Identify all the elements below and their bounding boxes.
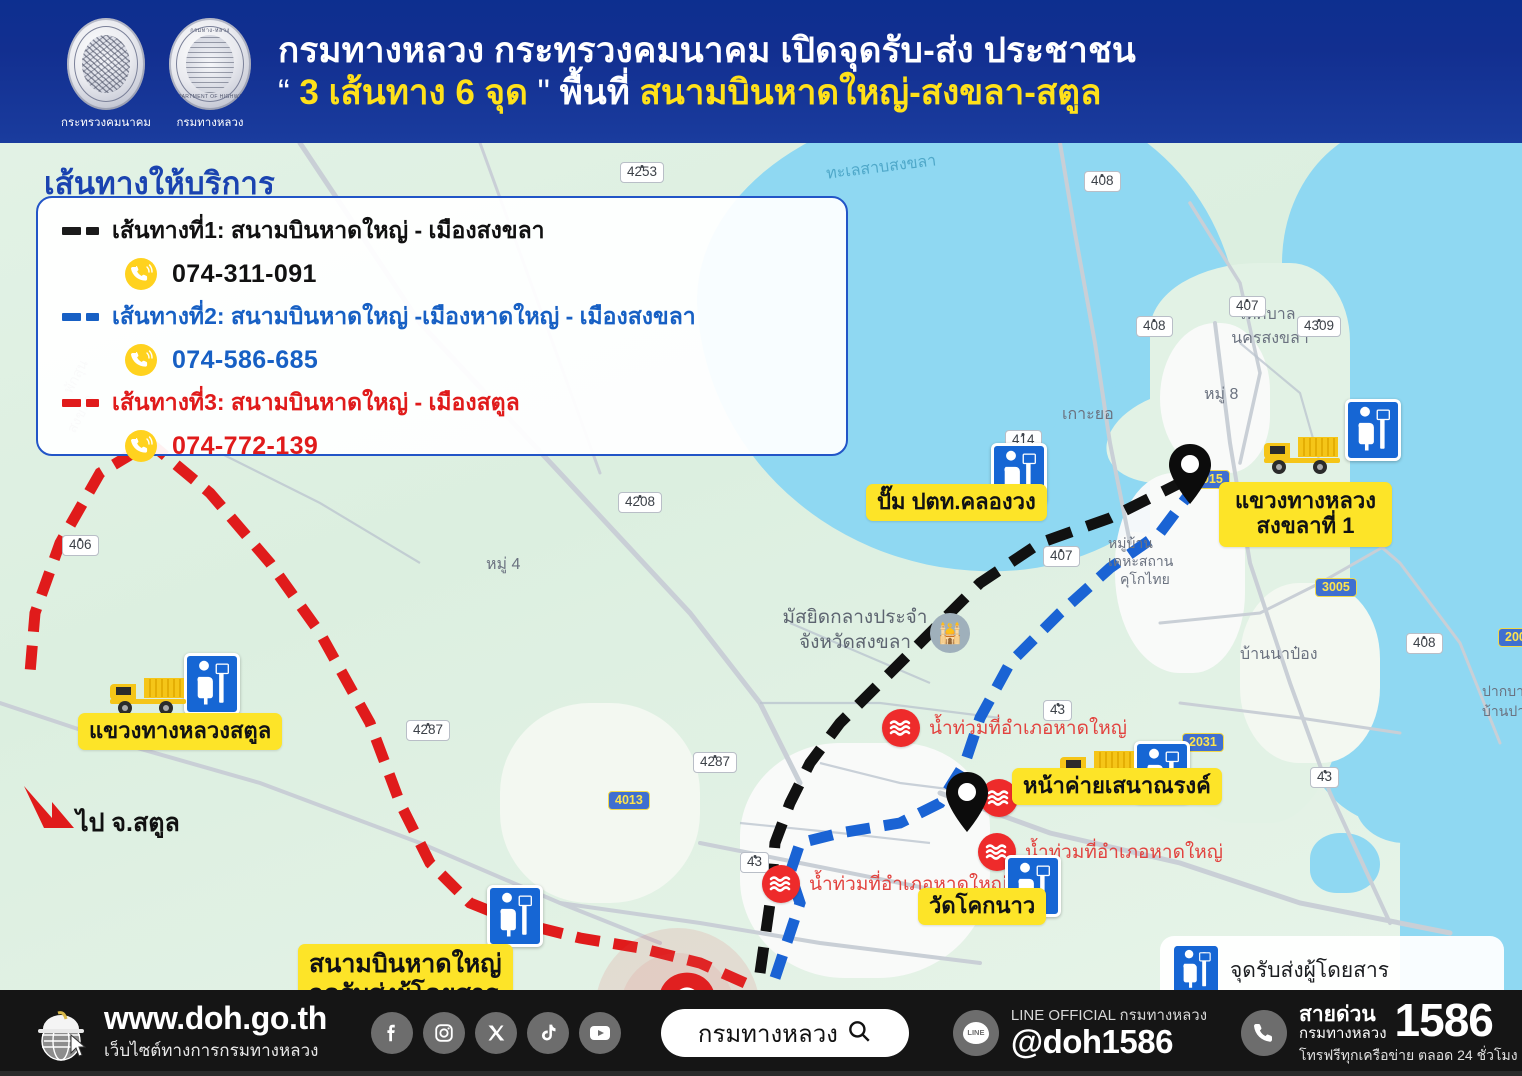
facebook-icon[interactable] [371, 1012, 413, 1054]
bus-stop-sign-icon-airport [487, 885, 543, 947]
website-block[interactable]: www.doh.go.th เว็บไซต์ทางการกรมทางหลวง [104, 1002, 327, 1064]
route-legend-row-2: เส้นทางที่2: สนามบินหาดใหญ่ -เมืองหาดใหญ… [38, 296, 846, 338]
label-central-mosque-1: มัสยิดกลางประจำ [760, 606, 950, 630]
callout-senanarong-camp: หน้าค่ายเสนาณรงค์ [1012, 768, 1222, 805]
hotline-note: โทรฟรีทุกเครือข่าย ตลอด 24 ชั่วโมง [1299, 1045, 1517, 1067]
route-phone-3[interactable]: 074-772-139 [172, 432, 318, 461]
label-moo-8: หมู่ 8 [1204, 385, 1238, 405]
label-pak-ba-1: ปากบา [1482, 683, 1522, 701]
road-shield-406-17: 406 [62, 535, 99, 556]
callout-songkhla-district-1-line1: แขวงทางหลวง [1235, 488, 1376, 513]
flood-label: น้ำท่วมที่อำเภอหาดใหญ่ [929, 713, 1127, 743]
header-seals: กระทรวงคมนาคม กรมทาง-หลวง DEPARTMENT OF … [60, 12, 256, 132]
doh-seal-block: กรมทาง-หลวง DEPARTMENT OF HIGHWAYS กรมทา… [164, 18, 256, 132]
map-legend-pickup-label: จุดรับส่งผู้โดยสาร [1230, 954, 1389, 987]
header-highlight: 3 เส้นทาง 6 จุด [299, 73, 527, 112]
map-pin-senanarong[interactable] [944, 771, 990, 833]
flood-icon [882, 709, 920, 747]
route-legend-row-3: เส้นทางที่3: สนามบินหาดใหญ่ - เมืองสตูล [38, 382, 846, 424]
youtube-icon[interactable] [579, 1012, 621, 1054]
department-of-highways-seal-icon: กรมทาง-หลวง DEPARTMENT OF HIGHWAYS [169, 18, 251, 110]
search-text[interactable]: กรมทางหลวง [698, 1014, 838, 1053]
road-shield-4287-14: 4287 [406, 720, 450, 741]
flood-marker-1: น้ำท่วมที่อำเภอหาดใหญ่ [882, 709, 1127, 747]
route-dash-icon-2 [62, 313, 112, 321]
road-shield-408-1: 408 [1136, 316, 1173, 337]
website-url[interactable]: www.doh.go.th [104, 1002, 327, 1036]
bus-stop-sign-icon-legend [1174, 946, 1218, 990]
route-phone-1[interactable]: 074-311-091 [172, 260, 317, 289]
line-id[interactable]: @doh1586 [1011, 1025, 1207, 1060]
route-dash-icon-1 [62, 227, 112, 235]
line-icon[interactable]: LINE [953, 1010, 999, 1056]
label-khet-sathan-1: หมู่บ้าน [1108, 535, 1153, 553]
phone-icon-2 [124, 343, 158, 377]
map-pin-airport[interactable] [656, 971, 718, 990]
header-banner: กระทรวงคมนาคม กรมทาง-หลวง DEPARTMENT OF … [0, 0, 1522, 143]
ministry-of-transport-seal-icon [67, 18, 145, 110]
road-shield-4013-18: 4013 [608, 791, 650, 810]
label-central-mosque-2: จังหวัดสงขลา [760, 631, 950, 655]
callout-pump-klongwong: ปั๊ม ปตท.คลองวง [866, 484, 1047, 521]
label-moo-4: หมู่ 4 [486, 555, 520, 575]
route-legend-box: เส้นทางที่1: สนามบินหาดใหญ่ - เมืองสงขลา… [36, 196, 848, 456]
line-official-block[interactable]: LINE LINE OFFICIAL กรมทางหลวง @doh1586 [953, 1007, 1207, 1060]
bus-stop-sign-icon-satun [184, 653, 240, 715]
route-dash-icon-3 [62, 399, 112, 407]
callout-songkhla-district-1-line2: สงขลาที่ 1 [1235, 513, 1376, 538]
header-quote-close: " [538, 73, 550, 112]
flood-icon [762, 865, 800, 903]
phone-icon[interactable] [1241, 1010, 1287, 1056]
search-icon[interactable] [846, 1018, 872, 1049]
line-caption: LINE OFFICIAL กรมทางหลวง [1011, 1007, 1207, 1024]
route-legend-text-1: เส้นทางที่1: สนามบินหาดใหญ่ - เมืองสงขลา [112, 213, 545, 249]
road-shield-4309-3: 4309 [1297, 316, 1341, 337]
road-shield-4253-16: 4253 [620, 162, 664, 183]
callout-hatyai-airport-line2: จุดรับส่งผู้โดยสาร [309, 979, 502, 990]
footer-bar: www.doh.go.th เว็บไซต์ทางการกรมทางหลวง [0, 990, 1522, 1076]
label-khet-sathan-3: คุโกไทย [1120, 571, 1170, 589]
hotline-subtitle: กรมทางหลวง [1299, 1026, 1387, 1043]
map-legend-row-pickup: จุดรับส่งผู้โดยสาร [1174, 946, 1490, 990]
map-legend-box: จุดรับส่งผู้โดยสาร [1160, 936, 1504, 990]
road-shield-407-2: 407 [1229, 296, 1266, 317]
route-legend-row-1: เส้นทางที่1: สนามบินหาดใหญ่ - เมืองสงขลา [38, 210, 846, 252]
label-khet-sathan-2: เคหะสถาน [1108, 553, 1173, 571]
line-caption-suffix: กรมทางหลวง [1120, 1007, 1208, 1024]
mouse-cursor-icon [70, 1034, 88, 1058]
infographic-poster: กระทรวงคมนาคม กรมทาง-หลวง DEPARTMENT OF … [0, 0, 1522, 1076]
line-caption-prefix: LINE OFFICIAL [1011, 1007, 1115, 1024]
header-quote-open: “ [278, 73, 290, 112]
callout-hatyai-airport: สนามบินหาดใหญ่ จุดรับส่งผู้โดยสาร [298, 944, 513, 990]
callout-hatyai-airport-line1: สนามบินหาดใหญ่ [309, 949, 502, 979]
social-icons[interactable] [371, 1012, 621, 1054]
phone-icon-3 [124, 429, 158, 463]
hotline-number[interactable]: 1586 [1395, 999, 1493, 1043]
route-legend-rows: เส้นทางที่1: สนามบินหาดใหญ่ - เมืองสงขลา… [38, 210, 846, 468]
route-legend-text-3: เส้นทางที่3: สนามบินหาดใหญ่ - เมืองสตูล [112, 385, 520, 421]
road-shield-408-0: 408 [1084, 171, 1121, 192]
road-shield-4287-15: 4287 [693, 752, 737, 773]
header-area: สนามบินหาดใหญ่-สงขลา-สตูล [640, 73, 1102, 112]
website-subtitle: เว็บไซต์ทางการกรมทางหลวง [104, 1037, 327, 1064]
road-shield-408-9: 408 [1406, 633, 1443, 654]
mosque-poi-icon: 🕌 [930, 613, 970, 653]
header-line-2: “ 3 เส้นทาง 6 จุด " พื้นที่ สนามบินหาดให… [278, 72, 1136, 114]
route-legend-text-2: เส้นทางที่2: สนามบินหาดใหญ่ -เมืองหาดใหญ… [112, 299, 696, 335]
header-text-block: กรมทางหลวง กระทรวงคมนาคม เปิดจุดรับ-ส่ง … [278, 30, 1136, 114]
label-pak-ba-2: บ้านปา [1482, 703, 1522, 721]
search-pill[interactable]: กรมทางหลวง [661, 1009, 909, 1057]
dump-truck-icon-songkhla1 [1262, 429, 1342, 477]
road-shield-43-11: 43 [1310, 767, 1339, 788]
header-line-1: กรมทางหลวง กระทรวงคมนาคม เปิดจุดรับ-ส่ง … [278, 30, 1136, 72]
hotline-block[interactable]: สายด่วน กรมทางหลวง 1586 โทรฟรีทุกเครือข่… [1241, 999, 1517, 1067]
route-phone-row-1[interactable]: 074-311-091 [38, 252, 846, 296]
road-shield-3005-7: 3005 [1315, 578, 1357, 597]
hotline-title: สายด่วน [1299, 1004, 1387, 1026]
route-phone-row-3[interactable]: 074-772-139 [38, 424, 846, 468]
label-ban-na-pong: บ้านนาป๋อง [1240, 645, 1318, 665]
callout-songkhla-district-1: แขวงทางหลวง สงขลาที่ 1 [1219, 482, 1392, 547]
callout-satun-district: แขวงทางหลวงสตูล [78, 713, 282, 750]
tiktok-icon[interactable] [527, 1012, 569, 1054]
header-area-prefix: พื้นที่ [560, 73, 630, 112]
route-phone-2[interactable]: 074-586-685 [172, 346, 318, 375]
route-phone-row-2[interactable]: 074-586-685 [38, 338, 846, 382]
instagram-icon[interactable] [423, 1012, 465, 1054]
phone-icon-1 [124, 257, 158, 291]
to-satun-label: ไป จ.สตูล [76, 803, 180, 843]
road-shield-4208-13: 4208 [618, 492, 662, 513]
x-twitter-icon[interactable] [475, 1012, 517, 1054]
doh-seal-caption: กรมทางหลวง [176, 114, 243, 132]
dump-truck-icon-satun [108, 670, 188, 718]
label-ko-yo: เกาะยอ [1062, 405, 1114, 425]
bus-stop-sign-icon-songkhla1 [1345, 399, 1401, 461]
road-shield-407-5: 407 [1043, 546, 1080, 567]
ministry-seal-block: กระทรวงคมนาคม [60, 18, 152, 132]
road-shield-200-10: 200 [1498, 628, 1522, 647]
ministry-seal-caption: กระทรวงคมนาคม [61, 114, 151, 132]
callout-wat-khok-nao: วัดโคกนาว [918, 888, 1046, 925]
map-pin-songkhla[interactable] [1167, 443, 1213, 505]
